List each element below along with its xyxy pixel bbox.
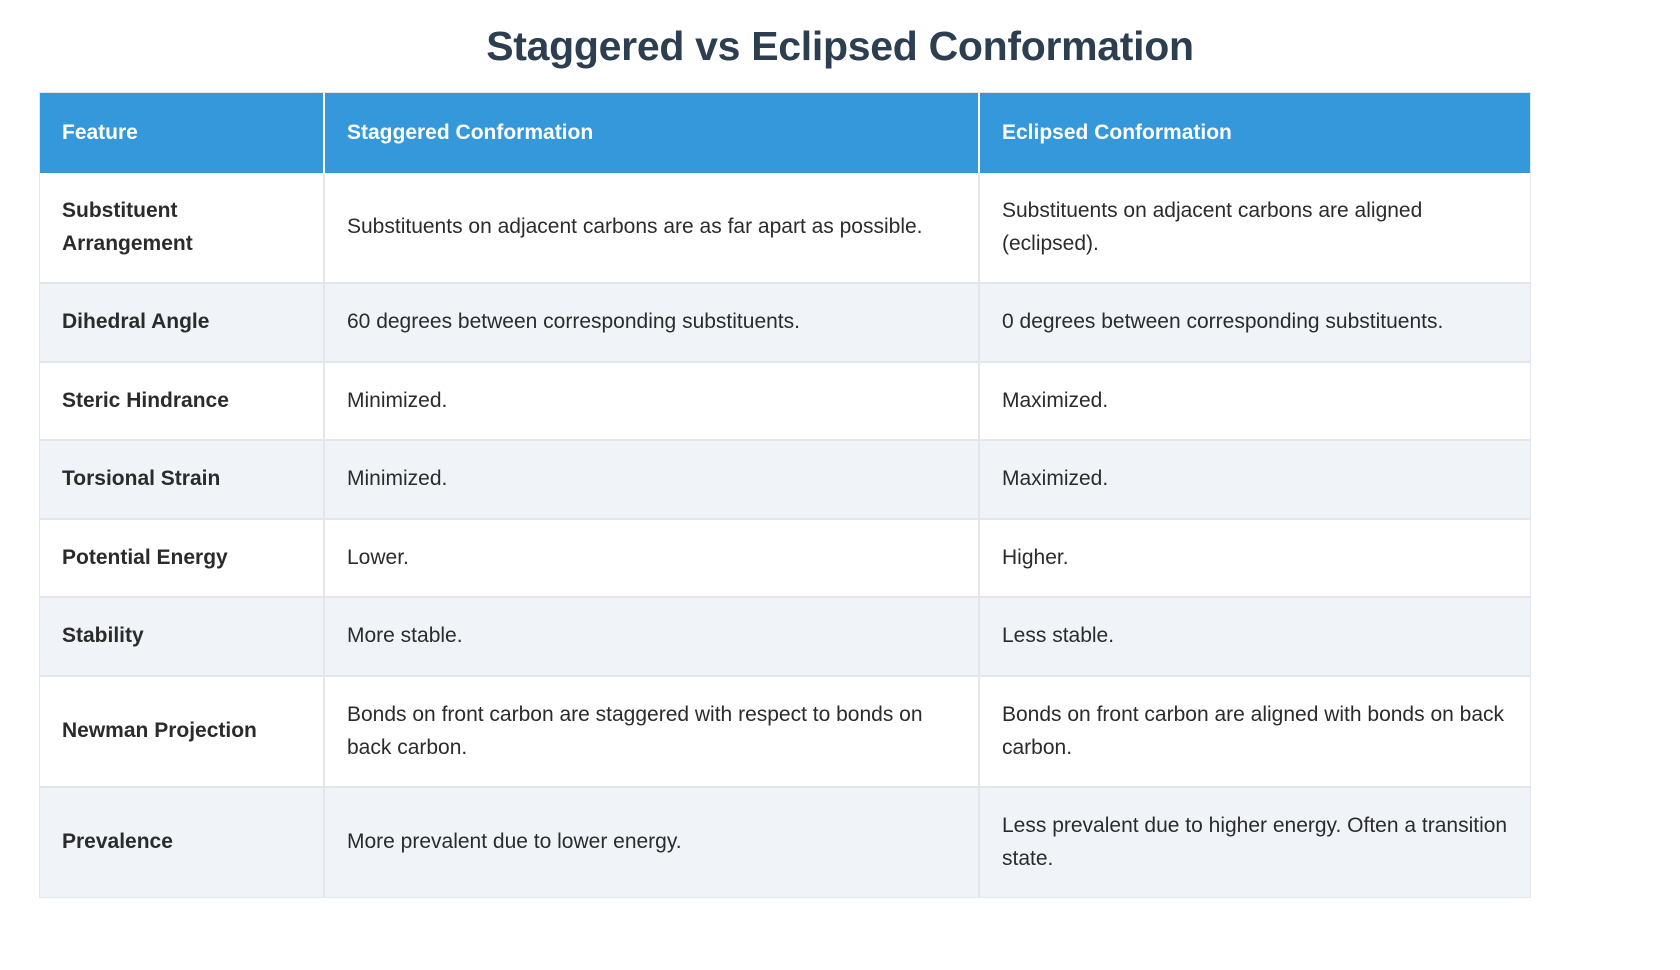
cell-eclipsed: Maximized. bbox=[979, 362, 1530, 441]
table-row: Substituent Arrangement Substituents on … bbox=[40, 173, 1530, 283]
cell-staggered: Bonds on front carbon are staggered with… bbox=[324, 676, 979, 787]
cell-feature: Stability bbox=[40, 597, 324, 676]
cell-eclipsed: Less prevalent due to higher energy. Oft… bbox=[979, 787, 1530, 897]
cell-staggered: More prevalent due to lower energy. bbox=[324, 787, 979, 897]
cell-staggered: Minimized. bbox=[324, 440, 979, 519]
table-header-row: Feature Staggered Conformation Eclipsed … bbox=[40, 93, 1530, 173]
comparison-table-page: Staggered vs Eclipsed Conformation Featu… bbox=[0, 0, 1680, 970]
table-row: Torsional Strain Minimized. Maximized. bbox=[40, 440, 1530, 519]
cell-eclipsed: Bonds on front carbon are aligned with b… bbox=[979, 676, 1530, 787]
cell-feature: Dihedral Angle bbox=[40, 283, 324, 362]
cell-feature: Newman Projection bbox=[40, 676, 324, 787]
table-row: Dihedral Angle 60 degrees between corres… bbox=[40, 283, 1530, 362]
cell-eclipsed: 0 degrees between corresponding substitu… bbox=[979, 283, 1530, 362]
cell-staggered: Minimized. bbox=[324, 362, 979, 441]
cell-feature: Potential Energy bbox=[40, 519, 324, 598]
cell-feature: Substituent Arrangement bbox=[40, 173, 324, 283]
column-header-eclipsed[interactable]: Eclipsed Conformation bbox=[979, 93, 1530, 173]
cell-staggered: Substituents on adjacent carbons are as … bbox=[324, 173, 979, 283]
cell-eclipsed: Higher. bbox=[979, 519, 1530, 598]
table-row: Prevalence More prevalent due to lower e… bbox=[40, 787, 1530, 897]
cell-eclipsed: Substituents on adjacent carbons are ali… bbox=[979, 173, 1530, 283]
cell-eclipsed: Less stable. bbox=[979, 597, 1530, 676]
comparison-table-container: Feature Staggered Conformation Eclipsed … bbox=[40, 93, 1530, 897]
table-row: Steric Hindrance Minimized. Maximized. bbox=[40, 362, 1530, 441]
table-row: Newman Projection Bonds on front carbon … bbox=[40, 676, 1530, 787]
cell-feature: Torsional Strain bbox=[40, 440, 324, 519]
column-header-feature[interactable]: Feature bbox=[40, 93, 324, 173]
table-header: Feature Staggered Conformation Eclipsed … bbox=[40, 93, 1530, 173]
table-row: Potential Energy Lower. Higher. bbox=[40, 519, 1530, 598]
cell-staggered: Lower. bbox=[324, 519, 979, 598]
table-body: Substituent Arrangement Substituents on … bbox=[40, 173, 1530, 897]
cell-feature: Steric Hindrance bbox=[40, 362, 324, 441]
cell-staggered: More stable. bbox=[324, 597, 979, 676]
table-row: Stability More stable. Less stable. bbox=[40, 597, 1530, 676]
cell-eclipsed: Maximized. bbox=[979, 440, 1530, 519]
comparison-table: Feature Staggered Conformation Eclipsed … bbox=[40, 93, 1530, 897]
page-title: Staggered vs Eclipsed Conformation bbox=[0, 0, 1680, 71]
cell-feature: Prevalence bbox=[40, 787, 324, 897]
column-header-staggered[interactable]: Staggered Conformation bbox=[324, 93, 979, 173]
cell-staggered: 60 degrees between corresponding substit… bbox=[324, 283, 979, 362]
